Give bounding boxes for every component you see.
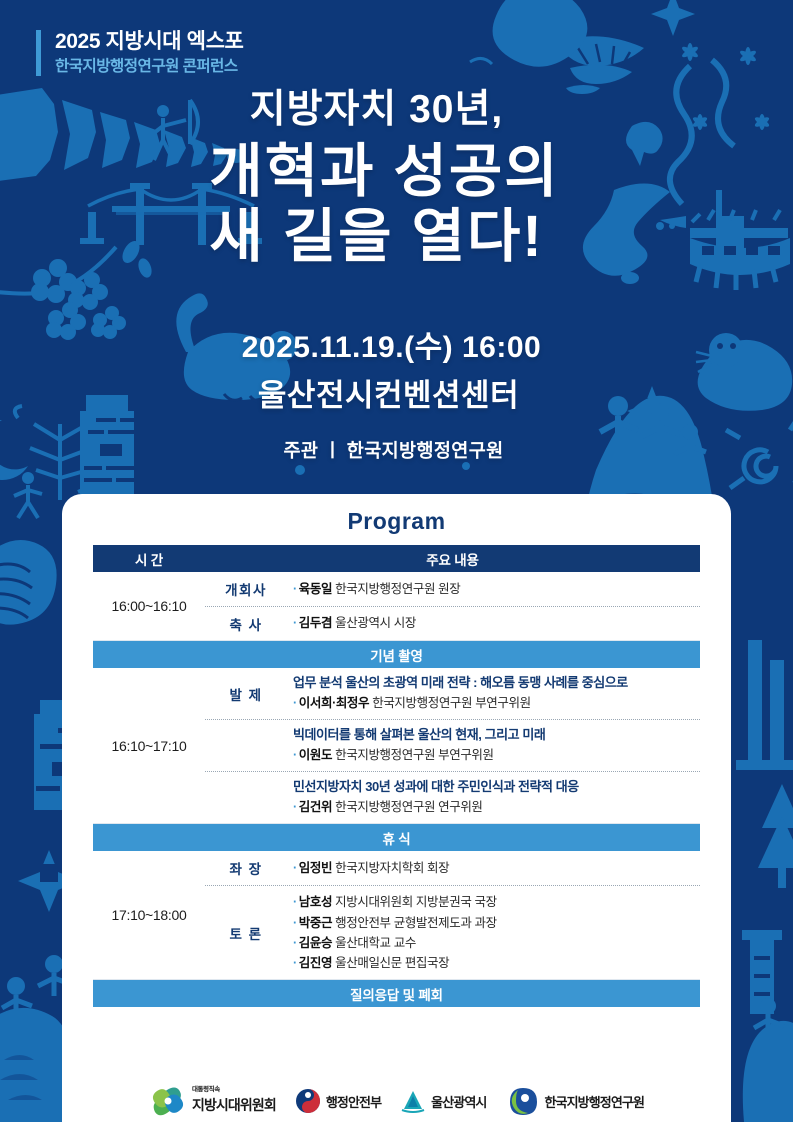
program-item: 빅데이터를 통해 살펴본 울산의 현재, 그리고 미래 ·이원도 한국지방행정연… bbox=[205, 719, 700, 771]
section-band-break: 휴 식 bbox=[93, 824, 700, 851]
ink-splash-icon bbox=[493, 0, 588, 67]
person-name: 김건위 bbox=[299, 800, 332, 814]
taegeuk-icon bbox=[295, 1088, 321, 1114]
item-person: ·김윤승 울산대학교 교수 bbox=[293, 933, 696, 953]
item-role: 개회사 bbox=[205, 579, 287, 599]
table-row: 16:10~17:10 발 제 업무 분석 울산의 초광역 미래 전략 : 해오… bbox=[93, 668, 700, 824]
item-role: 발 제 bbox=[205, 684, 287, 704]
section-band-photo: 기념 촬영 bbox=[93, 641, 700, 668]
logo-label: 울산광역시 bbox=[431, 1092, 486, 1111]
bullet-icon: · bbox=[293, 800, 297, 814]
logo-label: 행정안전부 bbox=[326, 1092, 381, 1111]
item-role: 축 사 bbox=[205, 614, 287, 634]
table-header-row: 시 간 주요 내용 bbox=[93, 545, 700, 572]
person-name: 김윤승 bbox=[299, 936, 332, 950]
hero-line-3: 새 길을 열다! bbox=[0, 205, 753, 270]
bullet-icon: · bbox=[293, 861, 297, 875]
program-item: 민선지방자치 30년 성과에 대한 주민인식과 전략적 대응 ·김건위 한국지방… bbox=[205, 771, 700, 823]
column-header-content: 주요 내용 bbox=[205, 549, 700, 569]
person-affiliation: 울산광역시 시장 bbox=[335, 616, 416, 630]
person-affiliation: 한국지방행정연구원 부연구위원 bbox=[335, 748, 493, 762]
logo-label: 지방시대위원회 bbox=[192, 1095, 276, 1115]
program-item: 발 제 업무 분석 울산의 초광역 미래 전략 : 해오름 동맹 사례를 중심으… bbox=[205, 668, 700, 719]
logo-ulsan: 울산광역시 bbox=[400, 1089, 486, 1113]
whale-petroglyph-lower-icon bbox=[0, 540, 57, 625]
person-name: 이원도 bbox=[299, 748, 332, 762]
bullet-icon: · bbox=[293, 936, 297, 950]
leaf-flourish-icon bbox=[470, 16, 564, 64]
table-row: 17:10~18:00 좌 장 ·임정빈 한국지방자치학회 회장 토 론 ·남호… bbox=[93, 851, 700, 980]
program-card: Program 시 간 주요 내용 16:00~16:10 개회사 ·육동일 한… bbox=[62, 494, 731, 1122]
bullet-icon: · bbox=[293, 748, 297, 762]
eyebrow-block: 2025 지방시대 엑스포 한국지방행정연구원 콘퍼런스 bbox=[36, 30, 243, 76]
row-time: 16:10~17:10 bbox=[93, 668, 205, 823]
person-affiliation: 한국지방행정연구원 연구위원 bbox=[335, 800, 482, 814]
item-detail: ·남호성 지방시대위원회 지방분권국 국장 ·박중근 행정안전부 균형발전제도과… bbox=[287, 886, 700, 979]
pine-tree-icon bbox=[758, 784, 793, 888]
bullet-icon: · bbox=[293, 895, 297, 909]
person-affiliation: 행정안전부 균형발전제도과 과장 bbox=[335, 916, 497, 930]
section-band-qa: 질의응답 및 폐회 bbox=[93, 980, 700, 1007]
item-person: ·김건위 한국지방행정연구원 연구위원 bbox=[293, 797, 696, 817]
item-person: ·김두겸 울산광역시 시장 bbox=[293, 613, 696, 633]
person-affiliation: 울산대학교 교수 bbox=[335, 936, 416, 950]
item-role: 토 론 bbox=[205, 923, 287, 943]
program-item: 개회사 ·육동일 한국지방행정연구원 원장 bbox=[205, 572, 700, 606]
poster-root: 2025 지방시대 엑스포 한국지방행정연구원 콘퍼런스 지방자치 30년, 개… bbox=[0, 0, 793, 1122]
hero-line-1: 지방자치 30년, bbox=[0, 78, 753, 134]
person-affiliation: 울산매일신문 편집국장 bbox=[335, 956, 449, 970]
person-name: 이서희·최정우 bbox=[299, 696, 369, 710]
item-role: 좌 장 bbox=[205, 858, 287, 878]
row-time: 17:10~18:00 bbox=[93, 851, 205, 979]
logo-superscript: 대통령직속 bbox=[192, 1087, 276, 1094]
bullet-icon: · bbox=[293, 616, 297, 630]
event-meta: 2025.11.19.(수) 16:00 울산전시컨벤션센터 주관 ㅣ 한국지방… bbox=[0, 322, 793, 463]
item-person: ·이서희·최정우 한국지방행정연구원 부연구위원 bbox=[293, 693, 696, 713]
event-subtitle: 한국지방행정연구원 콘퍼런스 bbox=[55, 58, 243, 76]
item-person: ·김진영 울산매일신문 편집국장 bbox=[293, 953, 696, 973]
row-time: 16:00~16:10 bbox=[93, 572, 205, 640]
balance-committee-icon bbox=[149, 1084, 187, 1118]
logo-label: 한국지방행정연구원 bbox=[544, 1092, 644, 1111]
item-person: ·육동일 한국지방행정연구원 원장 bbox=[293, 579, 696, 599]
footer-logos: 대통령직속 지방시대위원회 행정안전부 울산광역시 bbox=[62, 1084, 731, 1118]
person-name: 임정빈 bbox=[299, 861, 332, 875]
bullet-icon: · bbox=[293, 696, 297, 710]
event-datetime: 2025.11.19.(수) 16:00 bbox=[0, 322, 783, 366]
industry-icon bbox=[736, 640, 793, 770]
program-item: 좌 장 ·임정빈 한국지방자치학회 회장 bbox=[205, 851, 700, 885]
item-person: ·박중근 행정안전부 균형발전제도과 과장 bbox=[293, 913, 696, 933]
person-affiliation: 한국지방자치학회 회장 bbox=[335, 861, 449, 875]
event-name: 2025 지방시대 엑스포 bbox=[55, 30, 243, 55]
person-affiliation: 지방시대위원회 지방분권국 국장 bbox=[335, 895, 497, 909]
item-detail: 민선지방자치 30년 성과에 대한 주민인식과 전략적 대응 ·김건위 한국지방… bbox=[287, 772, 700, 823]
item-topic: 빅데이터를 통해 살펴본 울산의 현재, 그리고 미래 bbox=[293, 726, 696, 745]
program-heading: Program bbox=[62, 494, 731, 535]
item-detail: 업무 분석 울산의 초광역 미래 전략 : 해오름 동맹 사례를 중심으로 ·이… bbox=[287, 668, 700, 719]
bullet-icon: · bbox=[293, 582, 297, 596]
item-person: ·이원도 한국지방행정연구원 부연구위원 bbox=[293, 745, 696, 765]
person-name: 김두겸 bbox=[299, 616, 332, 630]
item-topic: 업무 분석 울산의 초광역 미래 전략 : 해오름 동맹 사례를 중심으로 bbox=[293, 674, 696, 693]
event-organizer: 주관 ㅣ 한국지방행정연구원 bbox=[0, 437, 787, 463]
item-topic: 민선지방자치 30년 성과에 대한 주민인식과 전략적 대응 bbox=[293, 778, 696, 797]
program-item: 축 사 ·김두겸 울산광역시 시장 bbox=[205, 606, 700, 640]
item-detail: ·임정빈 한국지방자치학회 회장 bbox=[287, 852, 700, 884]
bullet-icon: · bbox=[293, 956, 297, 970]
rock-figures-bottom-right-icon bbox=[743, 998, 793, 1122]
ulsan-whale-icon bbox=[400, 1089, 426, 1113]
program-item: 토 론 ·남호성 지방시대위원회 지방분권국 국장 ·박중근 행정안전부 균형발… bbox=[205, 885, 700, 979]
krila-icon bbox=[505, 1086, 539, 1116]
program-table: 시 간 주요 내용 16:00~16:10 개회사 ·육동일 한국지방행정연구원… bbox=[93, 545, 700, 1007]
logo-mois: 행정안전부 bbox=[295, 1088, 381, 1114]
item-detail: ·김두겸 울산광역시 시장 bbox=[287, 607, 700, 639]
logo-balance-committee: 대통령직속 지방시대위원회 bbox=[149, 1084, 276, 1118]
person-name: 육동일 bbox=[299, 582, 332, 596]
table-row: 16:00~16:10 개회사 ·육동일 한국지방행정연구원 원장 축 사 ·김… bbox=[93, 572, 700, 641]
item-detail: ·육동일 한국지방행정연구원 원장 bbox=[287, 573, 700, 605]
person-name: 김진영 bbox=[299, 956, 332, 970]
event-venue: 울산전시컨벤션센터 bbox=[0, 370, 777, 415]
column-header-time: 시 간 bbox=[93, 549, 205, 569]
logo-krila: 한국지방행정연구원 bbox=[505, 1086, 644, 1116]
person-name: 남호성 bbox=[299, 895, 332, 909]
item-person: ·임정빈 한국지방자치학회 회장 bbox=[293, 858, 696, 878]
item-person: ·남호성 지방시대위원회 지방분권국 국장 bbox=[293, 892, 696, 912]
bullet-icon: · bbox=[293, 916, 297, 930]
hero-title: 지방자치 30년, 개혁과 성공의 새 길을 열다! bbox=[0, 78, 793, 270]
person-affiliation: 한국지방행정연구원 부연구위원 bbox=[372, 696, 530, 710]
person-affiliation: 한국지방행정연구원 원장 bbox=[335, 582, 460, 596]
person-name: 박중근 bbox=[299, 916, 332, 930]
item-detail: 빅데이터를 통해 살펴본 울산의 현재, 그리고 미래 ·이원도 한국지방행정연… bbox=[287, 720, 700, 771]
tower-right-icon bbox=[742, 930, 782, 1014]
hero-line-2: 개혁과 성공의 bbox=[0, 140, 769, 205]
